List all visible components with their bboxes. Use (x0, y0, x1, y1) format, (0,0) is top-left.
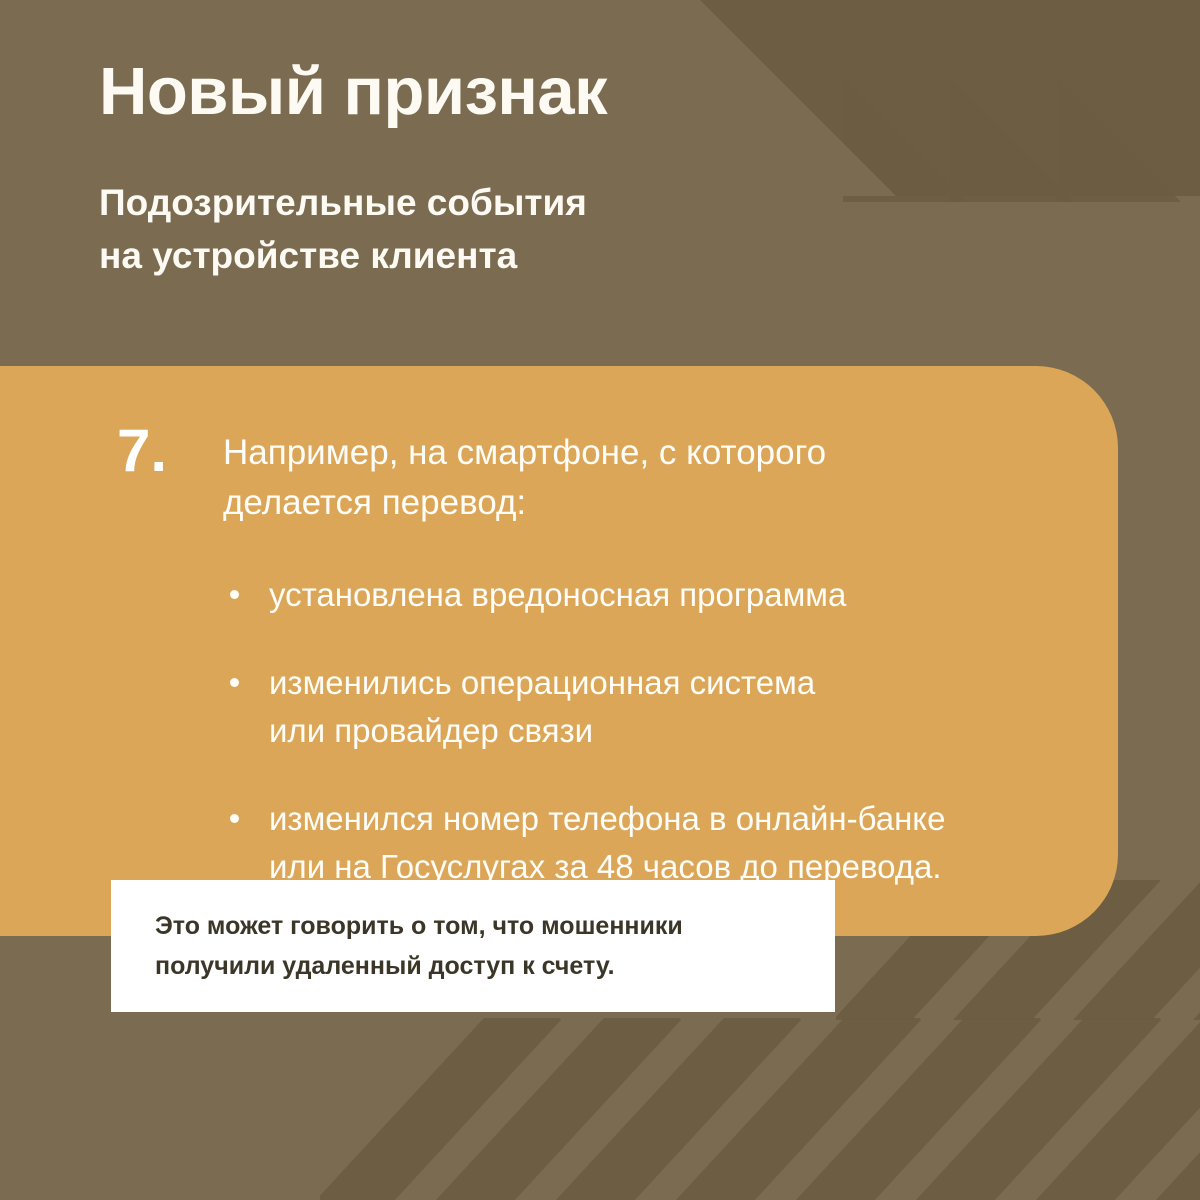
callout-text: Это может говорить о том, что мошенники … (155, 906, 835, 987)
callout-line-2: получили удаленный доступ к счету. (155, 946, 835, 987)
item-number: 7. (117, 422, 223, 479)
list-item: изменились операционная система или пров… (223, 659, 1048, 755)
bullet-2-line-2: или провайдер связи (269, 707, 1048, 755)
top-triangle-1 (843, 78, 967, 202)
bullet-2-line-1: изменились операционная система (269, 659, 1048, 707)
top-triangle-3 (1057, 78, 1181, 202)
bullet-dot-icon (230, 814, 239, 823)
list-item: изменился номер телефона в онлайн-банке … (223, 795, 1048, 891)
bullet-dot-icon (230, 678, 239, 687)
numbered-item: 7. Например, на смартфоне, с которого де… (117, 428, 1048, 527)
page-subtitle: Подозрительные события на устройстве кли… (99, 125, 859, 283)
content-card: 7. Например, на смартфоне, с которого де… (0, 366, 1118, 936)
top-triangle-row (843, 0, 1200, 202)
subtitle-line-1: Подозрительные события (99, 177, 859, 230)
bullet-3-line-1: изменился номер телефона в онлайн-банке (269, 795, 1048, 843)
subtitle-line-2: на устройстве клиента (99, 230, 859, 283)
item-intro-line-2: делается перевод: (223, 478, 1048, 528)
list-item: установлена вредоносная программа (223, 571, 1048, 619)
callout-line-1: Это может говорить о том, что мошенники (155, 906, 835, 947)
item-intro-line-1: Например, на смартфоне, с которого (223, 428, 1048, 478)
bottom-stripes (300, 1000, 1200, 1200)
bullet-list: установлена вредоносная программа измени… (223, 571, 1048, 890)
slide-canvas: Новый признак Подозрительные события на … (0, 0, 1200, 1200)
card-body: 7. Например, на смартфоне, с которого де… (117, 428, 1048, 891)
page-title: Новый признак (99, 58, 859, 125)
bullet-1-line-1: установлена вредоносная программа (269, 571, 1048, 619)
header: Новый признак Подозрительные события на … (99, 58, 859, 283)
callout-box: Это может говорить о том, что мошенники … (111, 880, 835, 1012)
top-triangle-2 (950, 78, 1074, 202)
item-intro-text: Например, на смартфоне, с которого делае… (223, 428, 1048, 527)
bullet-dot-icon (230, 590, 239, 599)
